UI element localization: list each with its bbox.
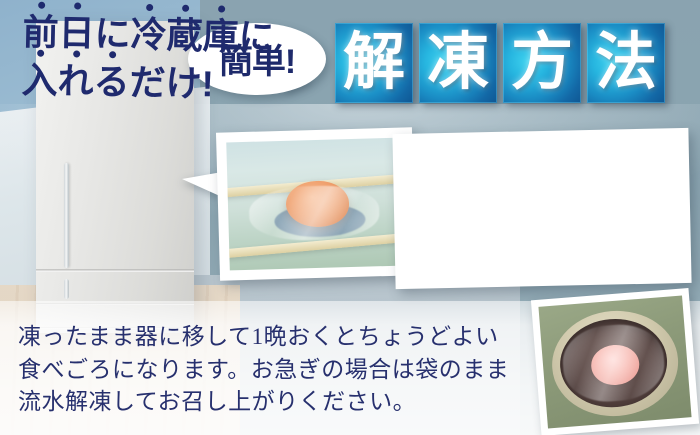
callout-char: 日 <box>58 14 95 53</box>
title-char-1: 解 <box>343 32 405 94</box>
thawing-method-banner: 簡単! 解 凍 方 法 前 日 に 冷 <box>0 0 700 435</box>
inset-photo-image <box>226 138 406 271</box>
callout-text: 前 日 に 冷 蔵 庫 に 入 れ る だ け ! <box>21 13 275 111</box>
title-tile-2: 凍 <box>419 23 497 103</box>
inset-photo-fridge-interior <box>216 127 416 280</box>
water-bowl-image <box>538 296 691 429</box>
photo-water-bowl <box>531 288 699 435</box>
page-title: 解 凍 方 法 <box>335 23 665 103</box>
plastic-wrap-shape <box>249 184 381 241</box>
refrigerator-handle-lower <box>64 279 69 299</box>
inset-photo-pointer <box>182 172 222 197</box>
body-copy-line-2: 食べごろになります。お急ぎの場合は袋のまま <box>18 354 538 387</box>
callout-char: け <box>165 65 202 104</box>
callout-char: だ <box>129 64 166 103</box>
callout-char: れ <box>57 62 94 101</box>
callout-char: 入 <box>21 62 58 101</box>
callout-char: 前 <box>22 13 59 52</box>
body-copy: 凍ったまま器に移して1晩おくとちょうどよい 食べごろになります。お急ぎの場合は袋… <box>18 321 538 419</box>
title-tile-1: 解 <box>335 23 413 103</box>
callout-panel <box>392 128 691 289</box>
title-tile-3: 方 <box>503 23 581 103</box>
callout-char: る <box>93 63 130 102</box>
title-tile-4: 法 <box>587 23 665 103</box>
callout-char: に <box>238 18 275 57</box>
callout-line-1: 前 日 に 冷 蔵 庫 に <box>22 13 275 56</box>
refrigerator-door-seam <box>36 269 194 272</box>
title-char-4: 法 <box>595 32 657 94</box>
callout-line-2: 入 れ る だ け ! <box>21 62 274 105</box>
callout-char: に <box>94 15 131 54</box>
body-copy-line-3: 流水解凍してお召し上がりください。 <box>18 386 538 419</box>
title-char-2: 凍 <box>427 32 489 94</box>
refrigerator-handle-upper <box>64 163 69 268</box>
body-copy-line-1: 凍ったまま器に移して1晩おくとちょうどよい <box>18 321 538 354</box>
callout-char: 蔵 <box>166 16 203 55</box>
title-char-3: 方 <box>511 32 573 94</box>
callout-char: 庫 <box>202 17 239 56</box>
callout-char: 冷 <box>130 16 167 55</box>
callout-char: ! <box>201 65 214 103</box>
